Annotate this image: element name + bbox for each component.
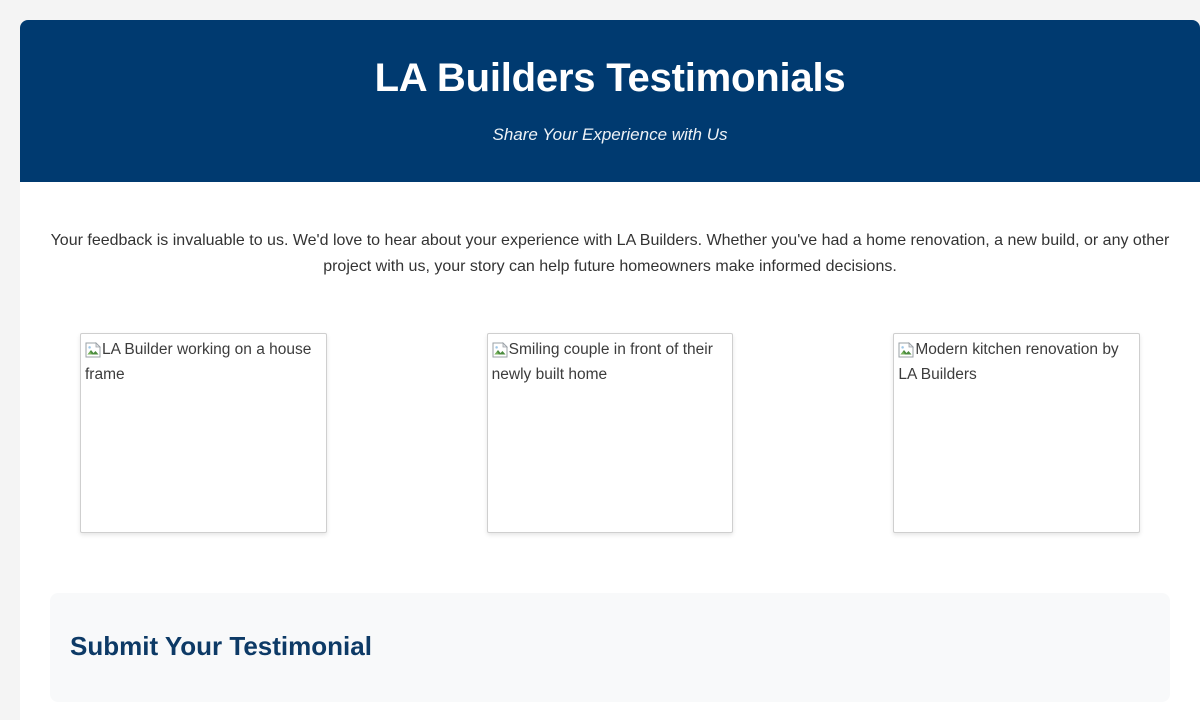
intro-paragraph: Your feedback is invaluable to us. We'd … <box>40 182 1180 279</box>
gallery-image-3-alt-text: Modern kitchen renovation by LA Builders <box>898 341 1118 383</box>
broken-image-icon <box>898 341 914 357</box>
site-header: LA Builders Testimonials Share Your Expe… <box>20 20 1200 182</box>
broken-image-icon <box>85 341 101 357</box>
submit-testimonial-section: Submit Your Testimonial <box>50 593 1170 702</box>
page-subtitle: Share Your Experience with Us <box>40 124 1180 146</box>
page-container: LA Builders Testimonials Share Your Expe… <box>20 20 1200 720</box>
broken-image-icon <box>492 341 508 357</box>
gallery-image-2-alt-text: Smiling couple in front of their newly b… <box>492 341 713 383</box>
image-gallery: LA Builder working on a house frame Smil… <box>40 279 1180 549</box>
content-body: Your feedback is invaluable to us. We'd … <box>20 182 1200 702</box>
submit-testimonial-heading: Submit Your Testimonial <box>70 631 1150 662</box>
gallery-image-1-alt-text: LA Builder working on a house frame <box>85 341 311 383</box>
gallery-image-1: LA Builder working on a house frame <box>80 333 327 533</box>
gallery-image-2: Smiling couple in front of their newly b… <box>487 333 734 533</box>
gallery-image-3: Modern kitchen renovation by LA Builders <box>893 333 1140 533</box>
page-title: LA Builders Testimonials <box>40 54 1180 102</box>
